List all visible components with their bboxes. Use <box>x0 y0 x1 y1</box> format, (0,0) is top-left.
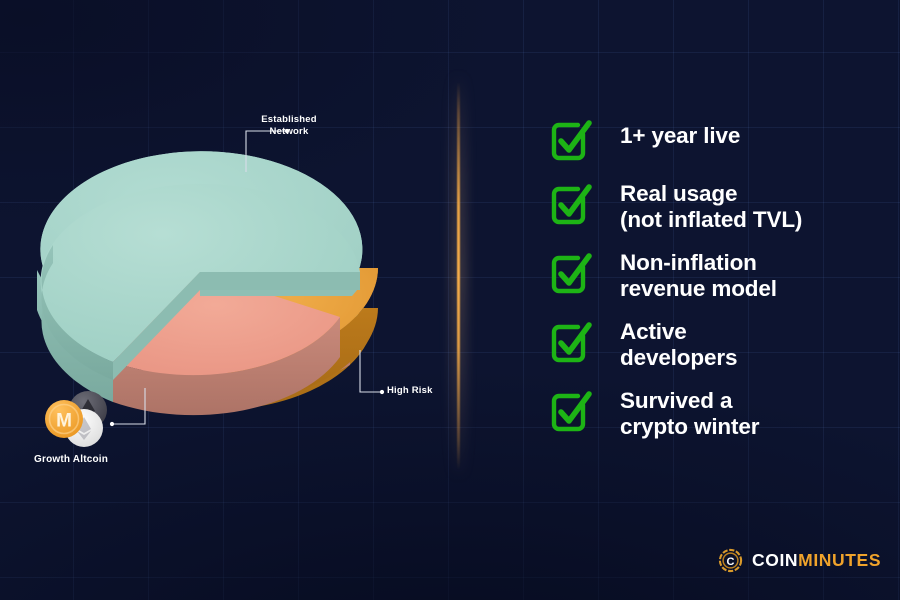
coinminutes-logo[interactable]: C COINMINUTES <box>718 548 881 573</box>
checklist: 1+ year live Real usage (not inflated TV… <box>548 116 878 439</box>
checkbox-checked-icon[interactable] <box>548 319 594 365</box>
checklist-item-one-year-live[interactable]: 1+ year live <box>548 116 878 163</box>
checklist-item-real-usage[interactable]: Real usage (not inflated TVL) <box>548 180 878 232</box>
checklist-item-label: Non-inflation revenue model <box>620 249 777 301</box>
pie-chart <box>30 120 430 430</box>
svg-text:C: C <box>727 556 735 568</box>
callout-growth-altcoin: Growth Altcoin <box>34 454 108 466</box>
callout-high-risk: High Risk <box>387 385 433 397</box>
checklist-item-label: Real usage (not inflated TVL) <box>620 180 802 232</box>
coin-mark-icon: C <box>718 548 743 573</box>
svg-text:M: M <box>56 411 72 432</box>
checklist-item-survived-crypto-winter[interactable]: Survived a crypto winter <box>548 387 878 439</box>
checklist-item-non-inflation-revenue[interactable]: Non-inflation revenue model <box>548 249 878 301</box>
checklist-item-label: 1+ year live <box>620 116 740 149</box>
checklist-item-label: Survived a crypto winter <box>620 387 759 439</box>
logo-text-minutes: MINUTES <box>798 550 881 570</box>
altcoin-coin-cluster: M <box>40 388 120 450</box>
checklist-item-label: Active developers <box>620 318 737 370</box>
logo-text-coin: COIN <box>752 550 798 570</box>
callout-established-network-line2: Network <box>254 126 324 138</box>
checkbox-checked-icon[interactable] <box>548 181 594 227</box>
monero-coin: M <box>45 400 83 438</box>
checkbox-checked-icon[interactable] <box>548 388 594 434</box>
infographic-canvas: M Established Network High Risk Growth A… <box>0 0 900 600</box>
checkbox-checked-icon[interactable] <box>548 250 594 296</box>
checklist-item-active-developers[interactable]: Active developers <box>548 318 878 370</box>
callout-established-network: Established Network <box>254 114 324 137</box>
vertical-accent-divider <box>457 82 460 470</box>
checkbox-checked-icon[interactable] <box>548 117 594 163</box>
callout-established-network-line1: Established <box>254 114 324 126</box>
